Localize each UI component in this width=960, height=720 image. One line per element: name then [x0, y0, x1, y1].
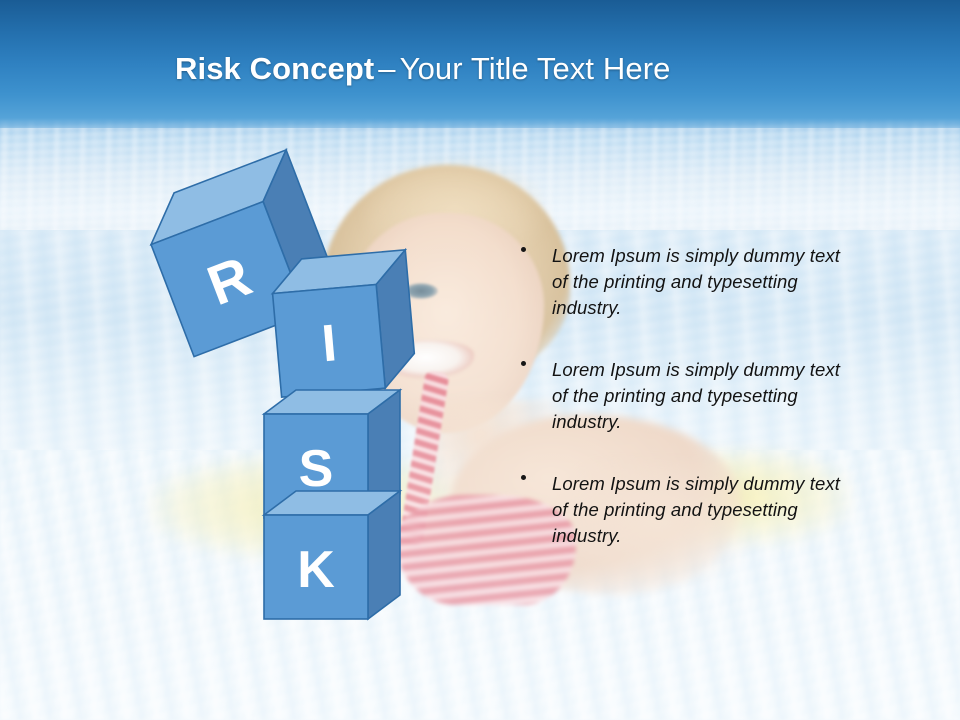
cube-k[interactable]: K — [260, 487, 430, 647]
bullet-text: Lorem Ipsum is simply dummy text of the … — [552, 471, 845, 549]
bullet-text: Lorem Ipsum is simply dummy text of the … — [552, 243, 845, 321]
list-item[interactable]: Lorem Ipsum is simply dummy text of the … — [515, 471, 845, 549]
slide-canvas: Risk Concept–Your Title Text Here R — [0, 0, 960, 720]
bullet-marker-icon — [521, 247, 526, 252]
list-item[interactable]: Lorem Ipsum is simply dummy text of the … — [515, 243, 845, 321]
bullet-marker-icon — [521, 475, 526, 480]
bullet-marker-icon — [521, 361, 526, 366]
bullet-list: Lorem Ipsum is simply dummy text of the … — [515, 243, 845, 549]
bullet-text: Lorem Ipsum is simply dummy text of the … — [552, 357, 845, 435]
cube-k-letter: K — [297, 541, 335, 599]
list-item[interactable]: Lorem Ipsum is simply dummy text of the … — [515, 357, 845, 435]
